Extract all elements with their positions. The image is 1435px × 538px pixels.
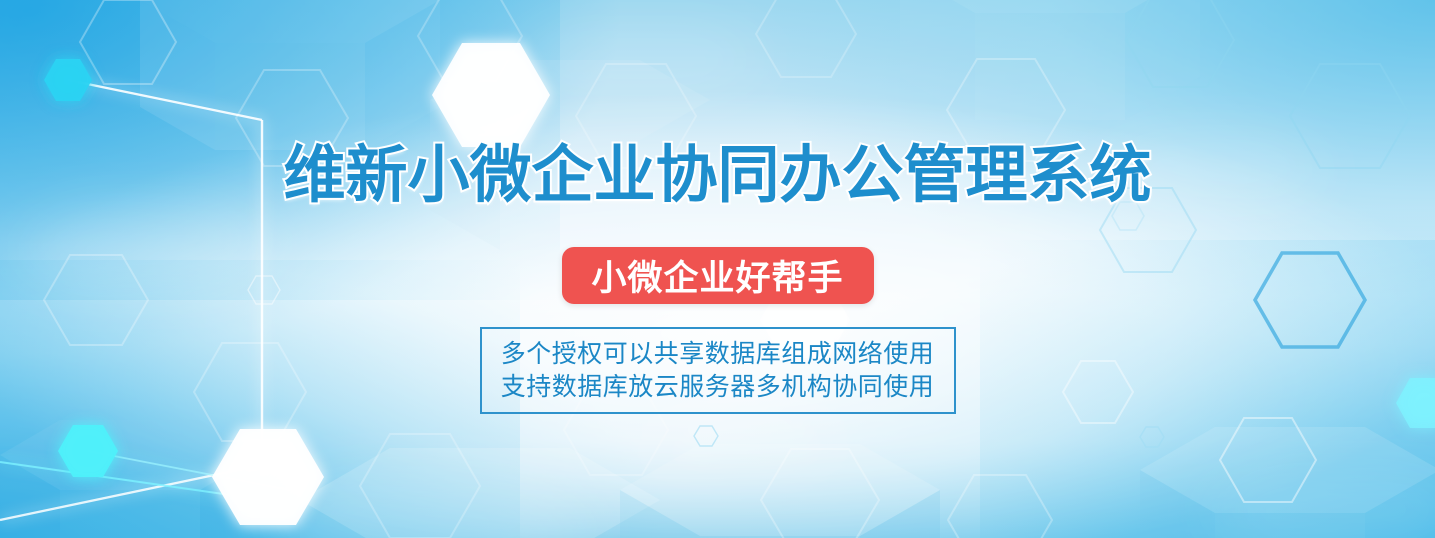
tagline-badge: 小微企业好帮手 <box>561 247 873 304</box>
feature-description-line-2: 支持数据库放云服务器多机构协同使用 <box>482 370 954 403</box>
tagline-badge-label: 小微企业好帮手 <box>591 250 843 301</box>
page-title: 维新小微企业协同办公管理系统 <box>0 140 1435 210</box>
feature-description-line-1: 多个授权可以共享数据库组成网络使用 <box>482 337 954 370</box>
promo-banner: 维新小微企业协同办公管理系统 小微企业好帮手 多个授权可以共享数据库组成网络使用… <box>0 0 1435 538</box>
banner-content: 维新小微企业协同办公管理系统 小微企业好帮手 多个授权可以共享数据库组成网络使用… <box>0 0 1435 538</box>
feature-description-box: 多个授权可以共享数据库组成网络使用 支持数据库放云服务器多机构协同使用 <box>480 327 956 414</box>
